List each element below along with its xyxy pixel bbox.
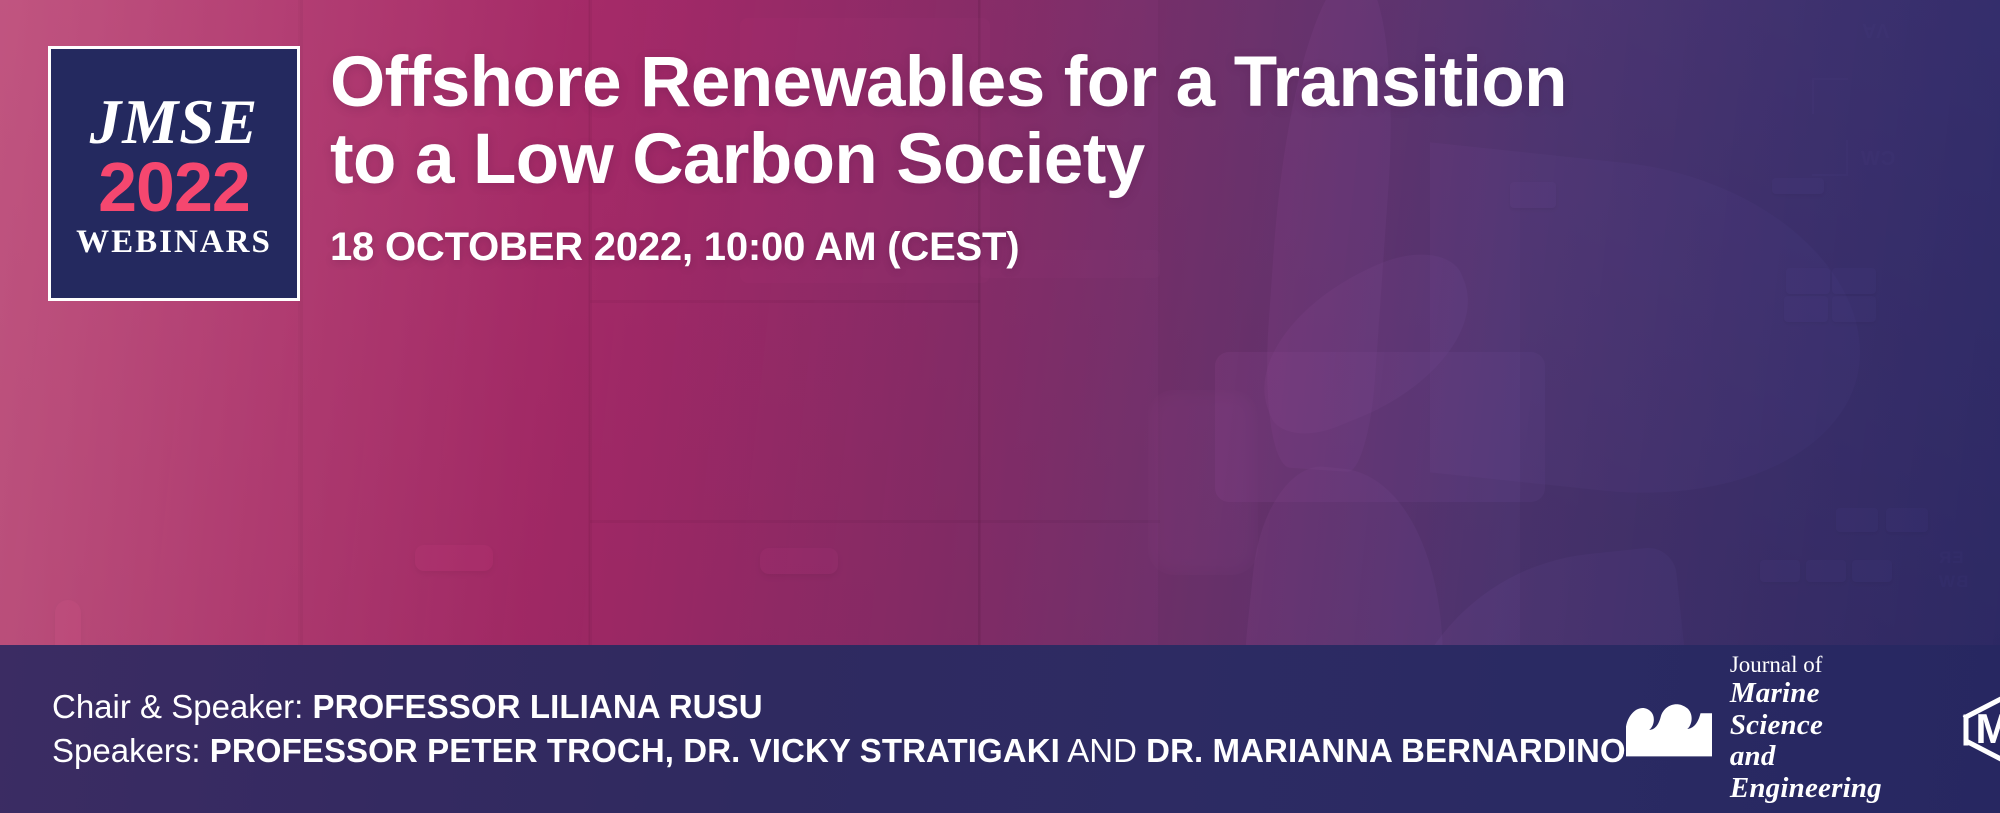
speaker-name-secondary: DR. MARIANNA BERNARDINO xyxy=(1146,732,1626,769)
chair-name: PROFESSOR LILIANA RUSU xyxy=(312,688,762,725)
journal-title-text: Journal of Marine Science and Engineerin… xyxy=(1730,653,1900,805)
webinar-banner: AV CW ER BW JMSE 2022 WEBINARS Offshore … xyxy=(0,0,2000,813)
journal-name-line-2: and Engineering xyxy=(1730,741,1900,805)
speakers-line: Speakers: PROFESSOR PETER TROCH, DR. VIC… xyxy=(52,729,1626,773)
footer-logos: Journal of Marine Science and Engineerin… xyxy=(1626,653,2000,805)
journal-prefix: Journal of xyxy=(1730,653,1900,678)
logo-journal-abbr: JMSE xyxy=(90,92,259,154)
event-datetime: 18 OCTOBER 2022, 10:00 AM (CEST) xyxy=(330,225,1680,270)
title-line-1: Offshore Renewables for a Transition xyxy=(330,44,1680,121)
mdpi-hexagon-icon: MDPI xyxy=(1958,677,2000,781)
page-title: Offshore Renewables for a Transition to … xyxy=(330,44,1680,199)
chair-line: Chair & Speaker: PROFESSOR LILIANA RUSU xyxy=(52,685,1626,729)
logo-year: 2022 xyxy=(98,152,250,223)
jmse-webinars-logo: JMSE 2022 WEBINARS xyxy=(48,46,300,301)
mdpi-logo: MDPI xyxy=(1958,677,2000,781)
title-line-2: to a Low Carbon Society xyxy=(330,121,1680,198)
speaker-names-primary: PROFESSOR PETER TROCH, DR. VICKY STRATIG… xyxy=(210,732,1060,769)
footer-credits: Chair & Speaker: PROFESSOR LILIANA RUSU … xyxy=(0,685,1626,773)
mdpi-wordmark: MDPI xyxy=(1975,705,2000,752)
journal-logo: Journal of Marine Science and Engineerin… xyxy=(1626,653,1900,805)
journal-name-line-1: Marine Science xyxy=(1730,678,1900,742)
speakers-label: Speakers: xyxy=(52,732,201,769)
headline-block: Offshore Renewables for a Transition to … xyxy=(330,44,1680,270)
logo-series-label: WEBINARS xyxy=(76,226,272,259)
wave-icon xyxy=(1626,696,1712,762)
footer-bar: Chair & Speaker: PROFESSOR LILIANA RUSU … xyxy=(0,645,2000,813)
chair-label: Chair & Speaker: xyxy=(52,688,303,725)
speakers-conjunction: AND xyxy=(1067,732,1137,769)
